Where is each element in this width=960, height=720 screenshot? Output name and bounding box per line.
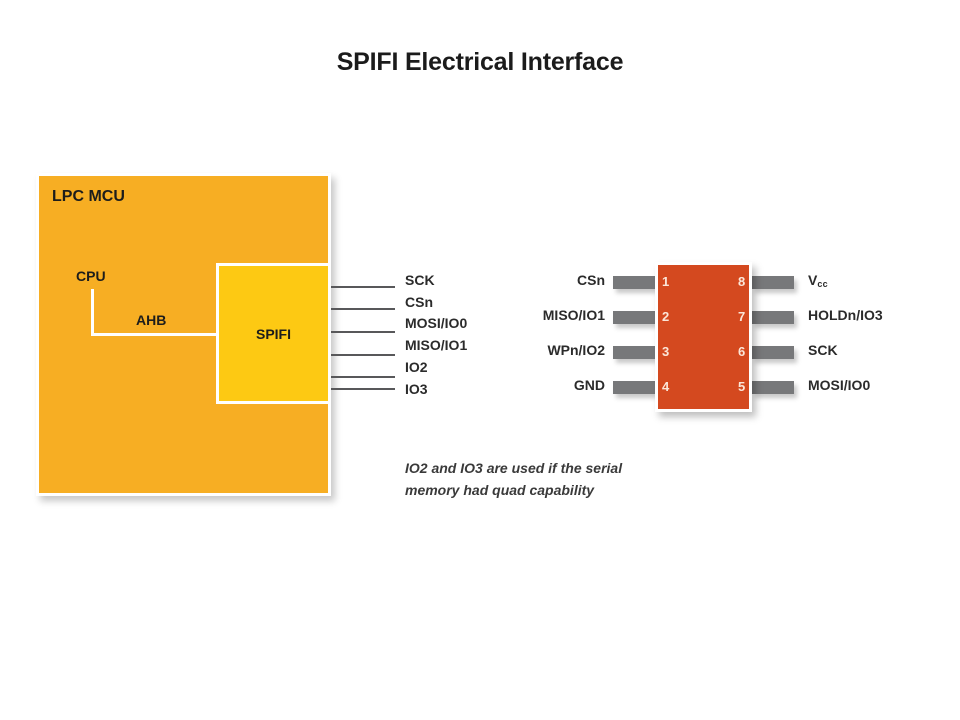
pin-number-3: 3 <box>662 344 669 359</box>
pin-number-4: 4 <box>662 379 669 394</box>
chip-pin-4 <box>613 381 655 394</box>
signal-label-mosi-io0: MOSI/IO0 <box>405 315 467 331</box>
chip-pin-label-miso-io1: MISO/IO1 <box>543 307 605 323</box>
chip-pin-3 <box>613 346 655 359</box>
lpc-mcu-label: LPC MCU <box>52 188 125 206</box>
pin-number-7: 7 <box>738 309 745 324</box>
signal-label-csn: CSn <box>405 294 433 310</box>
chip-pin-6 <box>752 346 794 359</box>
chip-pin-8 <box>752 276 794 289</box>
signal-line <box>331 388 395 390</box>
signal-line <box>331 331 395 333</box>
slide-canvas: SPIFI Electrical Interface LPC MCU CPU A… <box>0 0 960 720</box>
signal-line <box>331 354 395 356</box>
footnote-text: IO2 and IO3 are used if the serial memor… <box>405 458 665 501</box>
chip-pin-5 <box>752 381 794 394</box>
chip-pin-label-sck: SCK <box>808 342 838 358</box>
ahb-bus-label: AHB <box>136 312 166 328</box>
chip-pin-label-wpn-io2: WPn/IO2 <box>547 342 605 358</box>
pin-number-2: 2 <box>662 309 669 324</box>
page-title: SPIFI Electrical Interface <box>0 48 960 77</box>
cpu-label: CPU <box>76 268 106 284</box>
chip-pin-1 <box>613 276 655 289</box>
chip-pin-7 <box>752 311 794 324</box>
vcc-main-text: V <box>808 272 817 288</box>
chip-pin-label-csn: CSn <box>577 272 605 288</box>
signal-line <box>331 308 395 310</box>
chip-pin-2 <box>613 311 655 324</box>
signal-label-io3: IO3 <box>405 381 428 397</box>
signal-line <box>331 286 395 288</box>
vcc-subscript: cc <box>817 279 828 289</box>
chip-pin-label-holdn-io3: HOLDn/IO3 <box>808 307 883 323</box>
pin-number-1: 1 <box>662 274 669 289</box>
chip-pin-label-vcc: Vcc <box>808 272 828 288</box>
signal-label-io2: IO2 <box>405 359 428 375</box>
signal-line <box>331 376 395 378</box>
signal-label-miso-io1: MISO/IO1 <box>405 337 467 353</box>
signal-label-sck: SCK <box>405 272 435 288</box>
spifi-peripheral-label: SPIFI <box>216 326 331 342</box>
ahb-bus-horizontal-line <box>91 333 219 336</box>
pin-number-8: 8 <box>738 274 745 289</box>
pin-number-5: 5 <box>738 379 745 394</box>
pin-number-6: 6 <box>738 344 745 359</box>
chip-pin-label-gnd: GND <box>574 377 605 393</box>
chip-pin-label-mosi-io0: MOSI/IO0 <box>808 377 870 393</box>
ahb-bus-vertical-line <box>91 289 94 336</box>
